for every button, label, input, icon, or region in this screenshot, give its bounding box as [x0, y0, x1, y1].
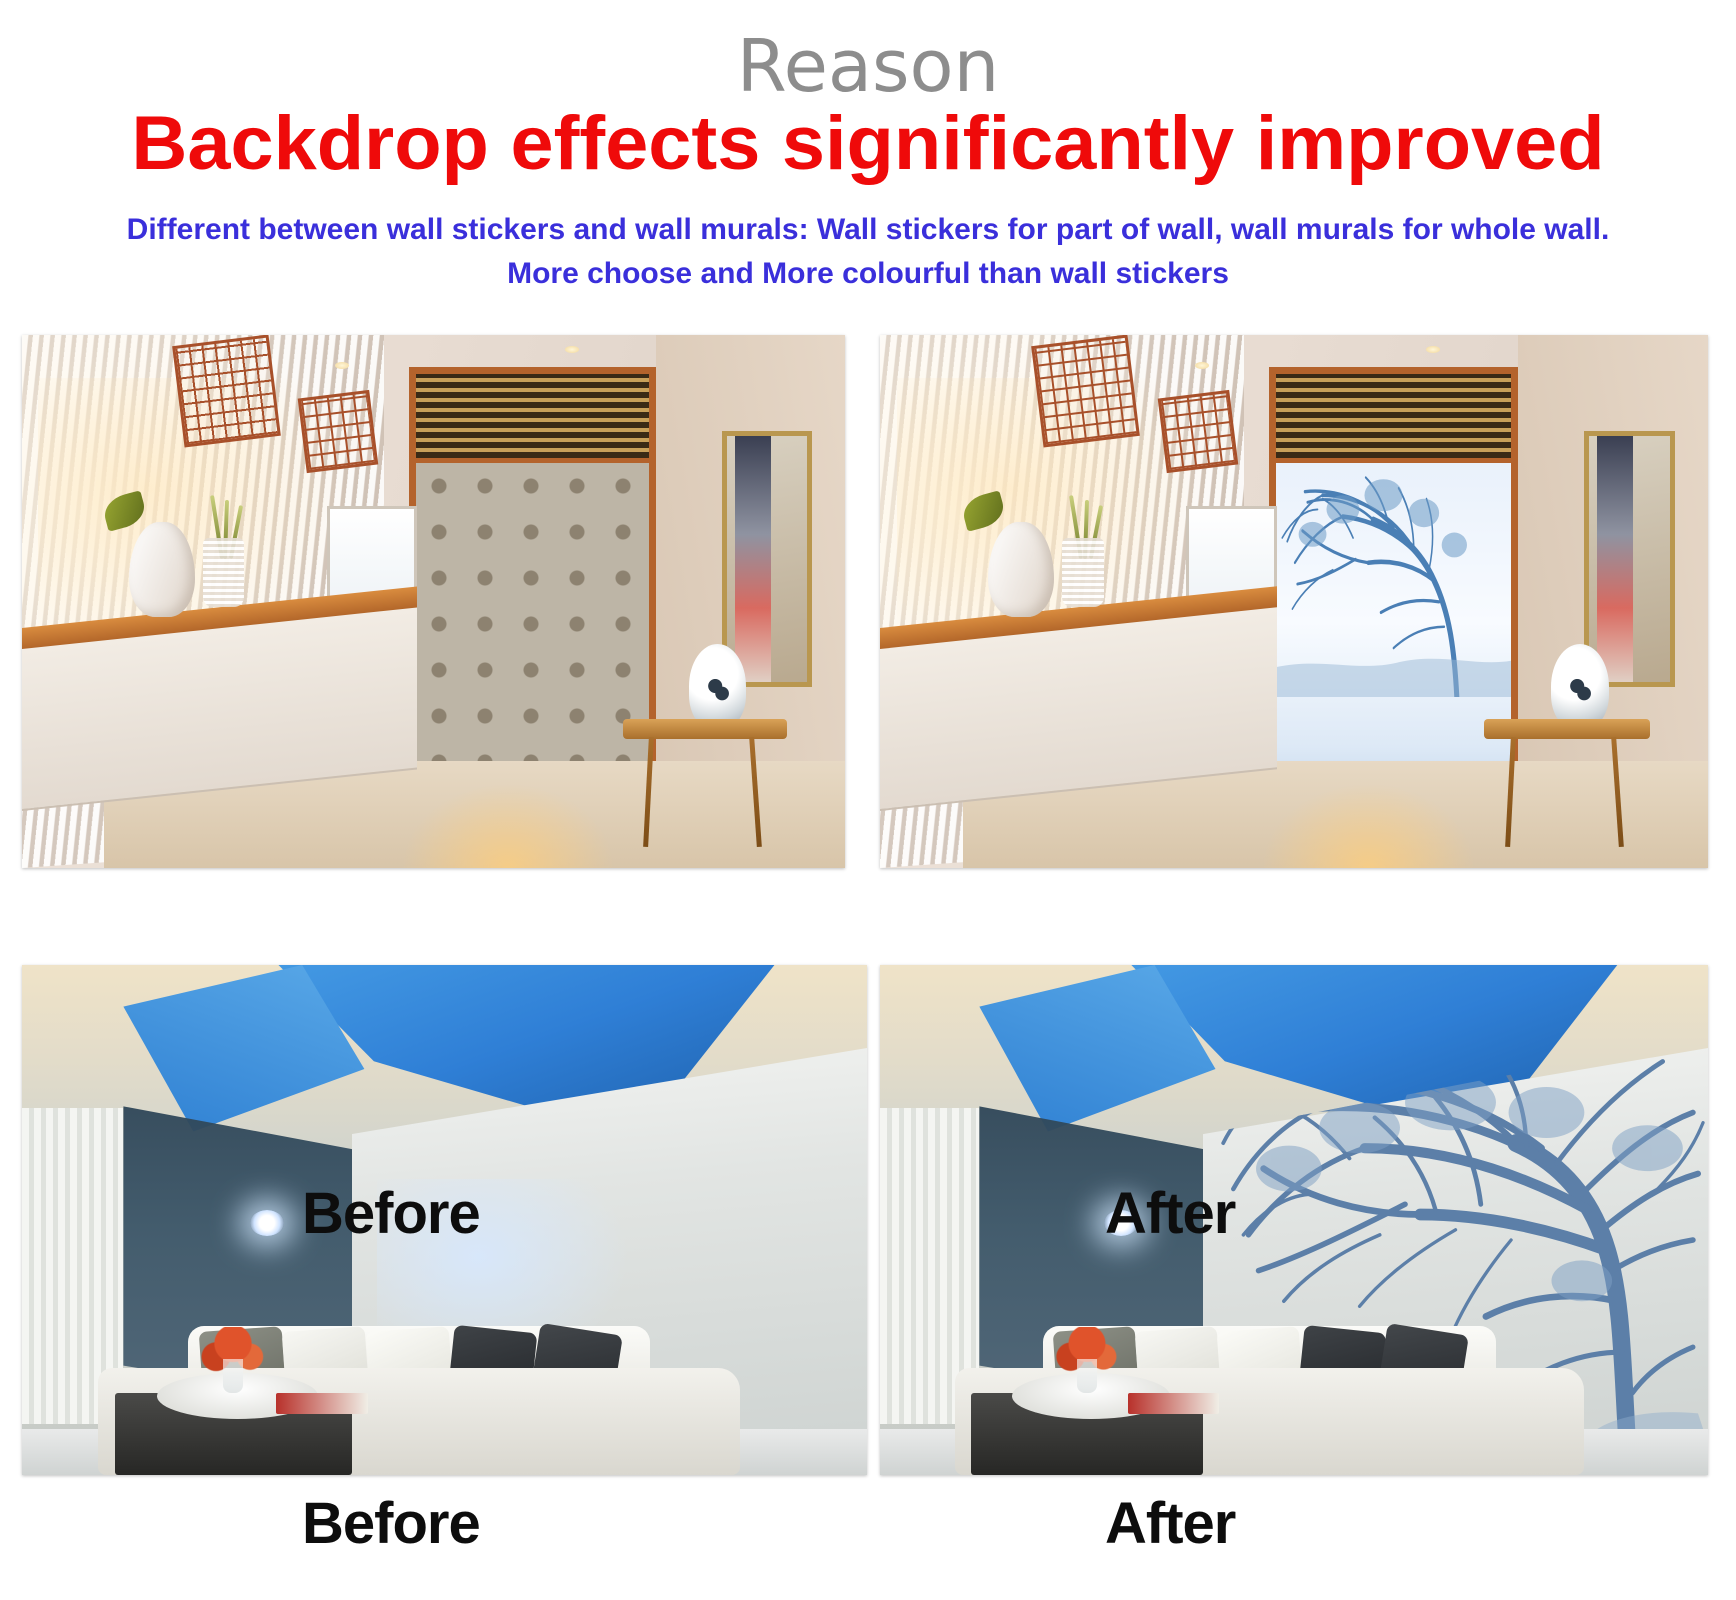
subtitle-line-1: Different between wall stickers and wall… — [0, 208, 1736, 252]
photo-living-after — [880, 965, 1708, 1475]
page-title: Backdrop effects significantly improved — [0, 104, 1736, 184]
header: Reason Backdrop effects significantly im… — [0, 0, 1736, 300]
comparison-grid: Before After Before After — [0, 300, 1736, 1600]
caption-living-before: Before — [302, 1490, 480, 1557]
eyebrow-heading: Reason — [0, 30, 1736, 102]
caption-living-after: After — [1105, 1490, 1235, 1557]
promo-page: Reason Backdrop effects significantly im… — [0, 0, 1736, 1600]
comparison-cell-living-after — [880, 965, 1708, 1475]
photo-hallway-after — [880, 335, 1708, 868]
caption-hallway-before: Before — [302, 1180, 480, 1247]
comparison-cell-hallway-before — [22, 335, 845, 868]
comparison-cell-hallway-after — [880, 335, 1708, 868]
caption-hallway-after: After — [1105, 1180, 1235, 1247]
photo-hallway-before — [22, 335, 845, 868]
subtitle-line-2: More choose and More colourful than wall… — [0, 252, 1736, 296]
